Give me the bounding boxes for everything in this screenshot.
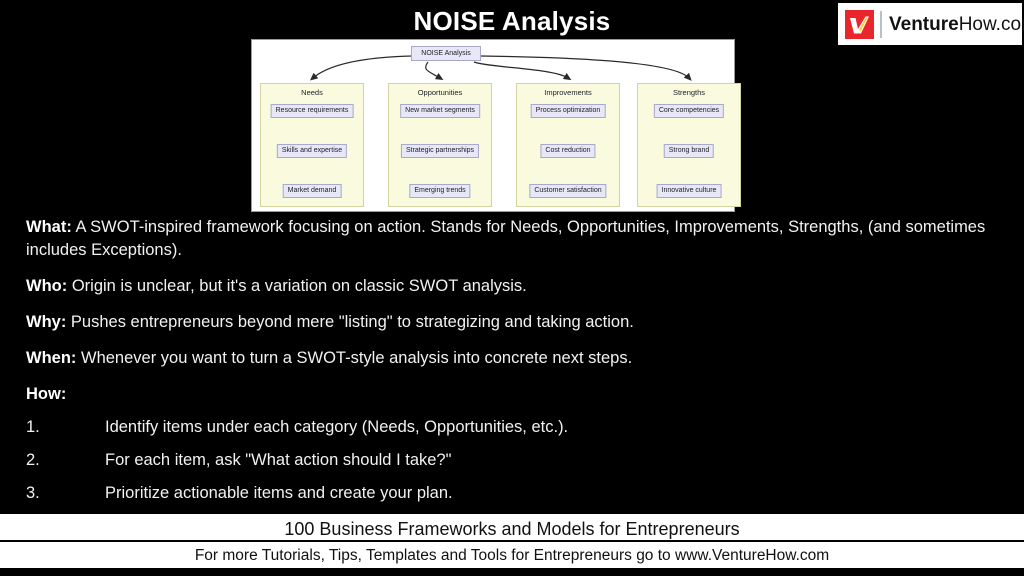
category-title: Needs	[261, 88, 363, 97]
step-text: Prioritize actionable items and create y…	[105, 482, 1001, 505]
slide-canvas: NOISE Analysis VentureHow.com	[0, 0, 1024, 576]
what-label: What:	[26, 218, 72, 236]
diagram-category-opportunities: Opportunities New market segments Strate…	[388, 83, 492, 207]
what-paragraph: What: A SWOT-inspired framework focusing…	[26, 216, 1001, 262]
category-item: Cost reduction	[540, 144, 595, 158]
how-paragraph: How:	[26, 383, 1001, 406]
list-item: 2. For each item, ask "What action shoul…	[26, 449, 1001, 472]
how-label: How:	[26, 385, 66, 403]
when-label: When:	[26, 349, 76, 367]
category-item: Skills and expertise	[277, 144, 347, 158]
category-item: Innovative culture	[657, 184, 722, 198]
category-item: Customer satisfaction	[529, 184, 606, 198]
what-text: A SWOT-inspired framework focusing on ac…	[26, 218, 985, 259]
logo-brand-bold: Venture	[889, 14, 959, 35]
diagram-category-needs: Needs Resource requirements Skills and e…	[260, 83, 364, 207]
logo-brand-light: How.com	[959, 14, 1024, 35]
venturehow-logo[interactable]: VentureHow.com	[838, 3, 1022, 45]
category-item: Process optimization	[531, 104, 606, 118]
how-steps-list: 1. Identify items under each category (N…	[26, 416, 1001, 505]
category-title: Strengths	[638, 88, 740, 97]
category-item: Strategic partnerships	[401, 144, 479, 158]
who-label: Who:	[26, 277, 67, 295]
category-item: Resource requirements	[271, 104, 354, 118]
category-item: Emerging trends	[409, 184, 470, 198]
diagram-category-improvements: Improvements Process optimization Cost r…	[516, 83, 620, 207]
list-item: 3. Prioritize actionable items and creat…	[26, 482, 1001, 505]
diagram-category-strengths: Strengths Core competencies Strong brand…	[637, 83, 741, 207]
category-title: Opportunities	[389, 88, 491, 97]
step-text: Identify items under each category (Need…	[105, 416, 1001, 439]
when-text: Whenever you want to turn a SWOT-style a…	[76, 349, 632, 367]
category-item: New market segments	[400, 104, 480, 118]
slide-footer: 100 Business Frameworks and Models for E…	[0, 512, 1024, 576]
who-paragraph: Who: Origin is unclear, but it's a varia…	[26, 275, 1001, 298]
why-text: Pushes entrepreneurs beyond mere "listin…	[66, 313, 634, 331]
footer-tagline-band: For more Tutorials, Tips, Templates and …	[0, 542, 1024, 570]
who-text: Origin is unclear, but it's a variation …	[67, 277, 527, 295]
logo-divider	[880, 11, 882, 38]
step-number: 3.	[26, 482, 105, 505]
step-text: For each item, ask "What action should I…	[105, 449, 1001, 472]
category-item: Strong brand	[664, 144, 714, 158]
category-item: Core competencies	[654, 104, 724, 118]
step-number: 2.	[26, 449, 105, 472]
list-item: 1. Identify items under each category (N…	[26, 416, 1001, 439]
when-paragraph: When: Whenever you want to turn a SWOT-s…	[26, 347, 1001, 370]
step-number: 1.	[26, 416, 105, 439]
footer-spacer	[0, 570, 1024, 576]
noise-analysis-diagram: NOISE Analysis Needs Resource requiremen…	[251, 39, 735, 212]
why-paragraph: Why: Pushes entrepreneurs beyond mere "l…	[26, 311, 1001, 334]
diagram-root-node: NOISE Analysis	[411, 46, 481, 61]
category-item: Market demand	[283, 184, 342, 198]
category-title: Improvements	[517, 88, 619, 97]
why-label: Why:	[26, 313, 66, 331]
footer-title-band: 100 Business Frameworks and Models for E…	[0, 512, 1024, 542]
slide-body: What: A SWOT-inspired framework focusing…	[26, 216, 1001, 515]
logo-wordmark: VentureHow.com	[889, 15, 1024, 34]
check-mark-icon	[845, 10, 874, 39]
